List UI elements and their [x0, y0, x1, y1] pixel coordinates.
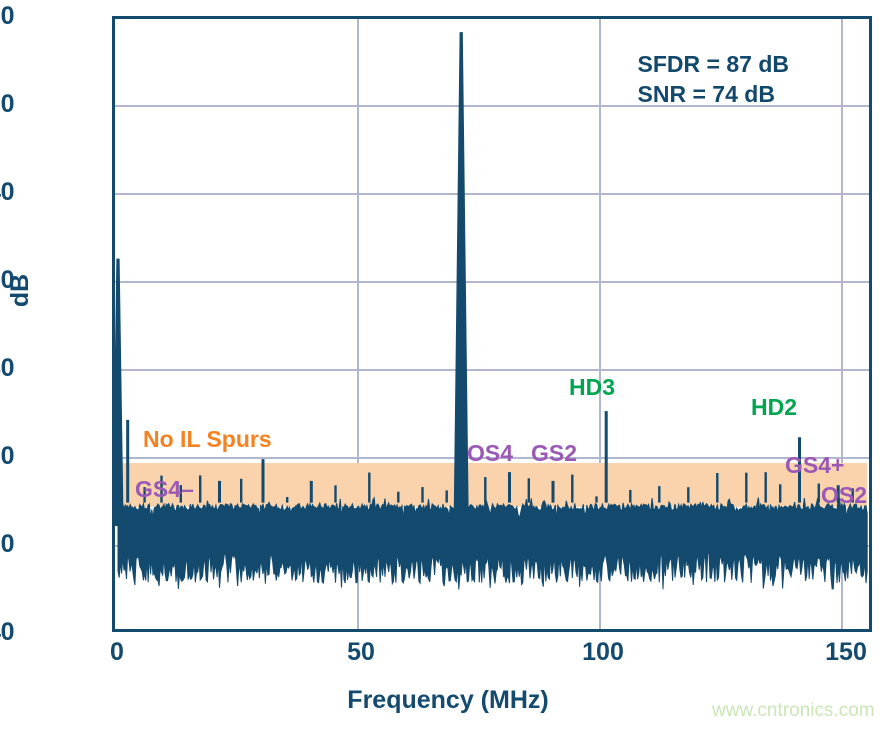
annotation-hd2: HD2	[751, 394, 797, 421]
annotation-os4: OS4	[467, 440, 513, 467]
x-tick-label-150: 150	[825, 638, 867, 667]
annotation-no-il-spurs: No IL Spurs	[143, 426, 272, 453]
spike-dc	[115, 259, 122, 525]
annotation-os2: OS2	[821, 482, 867, 509]
spectrum-trace	[115, 19, 869, 629]
x-tick-label-0: 0	[110, 638, 124, 667]
y-tick-label-m140: –140	[0, 618, 14, 647]
y-tick-label-m20: –20	[0, 90, 14, 119]
annotation-gs2: GS2	[531, 440, 577, 467]
annotation-gs4-minus: GS4–	[135, 476, 194, 503]
y-tick-label-m40: –40	[0, 178, 14, 207]
plot-area: No IL Spurs GS4– OS4 GS2 HD3 HD2 GS4+ OS…	[112, 16, 872, 632]
y-tick-label-m100: –100	[0, 442, 14, 471]
y-tick-label-m80: –80	[0, 354, 14, 383]
metrics-annotation: SFDR = 87 dB SNR = 74 dB	[638, 49, 789, 110]
annotation-gs4-plus: GS4+	[785, 452, 844, 479]
noise-floor	[118, 498, 867, 590]
x-tick-label-100: 100	[582, 638, 624, 667]
metric-sfdr: SFDR = 87 dB	[638, 49, 789, 79]
y-tick-label-0: 0	[1, 2, 14, 31]
spike-fundamental	[455, 32, 467, 524]
metric-snr: SNR = 74 dB	[638, 79, 789, 109]
y-tick-label-m120: –120	[0, 530, 14, 559]
watermark: www.cntronics.com	[712, 700, 875, 722]
x-tick-label-50: 50	[347, 638, 375, 667]
plot-inner: No IL Spurs GS4– OS4 GS2 HD3 HD2 GS4+ OS…	[115, 19, 869, 629]
annotation-hd3: HD3	[569, 374, 615, 401]
y-tick-label-m60: –60	[0, 266, 14, 295]
chart-root: dB 0 –20 –40 –60 –80 –100 –120 –140 0 50…	[0, 0, 896, 729]
